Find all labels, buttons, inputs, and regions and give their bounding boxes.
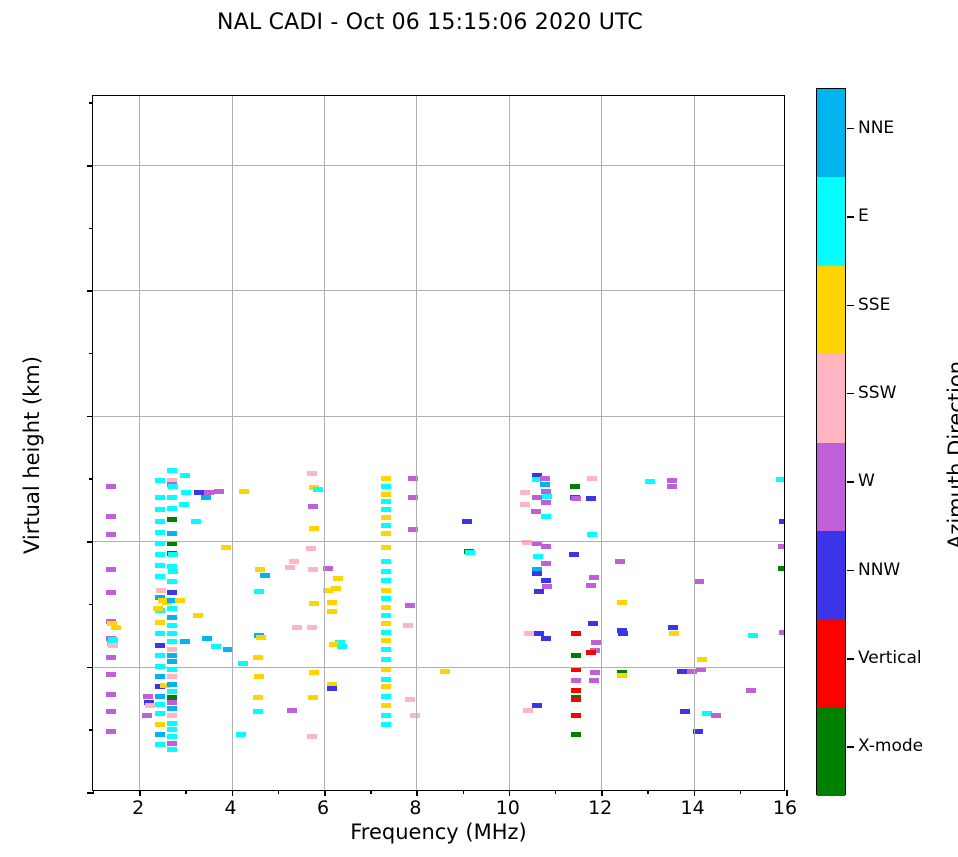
echo-point — [155, 620, 165, 625]
gridline-v — [416, 96, 417, 790]
echo-point — [748, 633, 758, 638]
echo-point — [333, 576, 343, 581]
echo-point — [668, 625, 678, 630]
azimuth-colorbar[interactable] — [816, 88, 846, 795]
echo-point — [167, 653, 177, 658]
page-title: NAL CADI - Oct 06 15:15:06 2020 UTC — [0, 10, 860, 35]
scatter-plot-area — [93, 96, 784, 790]
x-minor-tick — [647, 790, 648, 794]
echo-point — [106, 655, 116, 660]
echo-point — [167, 615, 177, 620]
echo-point — [541, 561, 551, 566]
echo-point — [167, 468, 177, 473]
echo-point — [202, 636, 212, 641]
gridline-v — [139, 96, 140, 790]
echo-point — [211, 644, 221, 649]
gridline-v — [232, 96, 233, 790]
echo-point — [381, 545, 391, 550]
echo-point — [167, 495, 177, 500]
x-minor-tick — [463, 790, 464, 794]
colorbar-segment-sse[interactable] — [817, 266, 845, 354]
echo-point — [615, 559, 625, 564]
echo-point — [308, 504, 318, 509]
x-tick — [694, 790, 696, 796]
echo-point — [541, 544, 551, 549]
echo-point — [776, 477, 784, 482]
echo-point — [617, 600, 627, 605]
echo-point — [313, 487, 323, 492]
x-minor-tick — [370, 790, 371, 794]
y-tick — [87, 667, 93, 669]
echo-point — [693, 729, 703, 734]
x-tick-label: 2 — [132, 797, 144, 819]
echo-point — [155, 742, 165, 747]
echo-point — [236, 732, 246, 737]
echo-point — [697, 657, 707, 662]
echo-point — [155, 702, 165, 707]
x-minor-tick — [278, 790, 279, 794]
echo-point — [746, 688, 756, 693]
colorbar-label-e: E — [858, 206, 869, 226]
colorbar-title: Azimuth Direction — [944, 305, 958, 605]
gridline-h — [93, 416, 784, 417]
echo-point — [106, 590, 116, 595]
echo-point — [155, 563, 165, 568]
echo-point — [586, 583, 596, 588]
colorbar-tick — [847, 305, 854, 307]
echo-point — [111, 625, 121, 630]
echo-point — [381, 713, 391, 718]
echo-point — [155, 732, 165, 737]
echo-point — [106, 692, 116, 697]
echo-point — [155, 711, 165, 716]
echo-point — [541, 514, 551, 519]
echo-point — [155, 552, 165, 557]
echo-point — [143, 694, 153, 699]
echo-point — [221, 545, 231, 550]
x-tick-label: 10 — [496, 797, 520, 819]
colorbar-segment-e[interactable] — [817, 177, 845, 265]
echo-point — [253, 709, 263, 714]
colorbar-segment-x-mode[interactable] — [817, 708, 845, 796]
colorbar-tick — [847, 658, 854, 660]
echo-point — [667, 484, 677, 489]
echo-point — [540, 476, 550, 481]
echo-point — [155, 574, 165, 579]
y-minor-tick — [89, 729, 93, 730]
echo-point — [168, 552, 178, 557]
y-minor-tick — [89, 102, 93, 103]
echo-point — [106, 514, 116, 519]
echo-point — [541, 636, 551, 641]
echo-point — [106, 567, 116, 572]
echo-point — [191, 519, 201, 524]
echo-point — [381, 476, 391, 481]
echo-point — [156, 588, 166, 593]
echo-point — [571, 697, 581, 702]
echo-point — [167, 689, 177, 694]
echo-point — [711, 713, 721, 718]
y-minor-tick — [89, 353, 93, 354]
colorbar-segment-nnw[interactable] — [817, 531, 845, 619]
echo-point — [569, 552, 579, 557]
echo-point — [167, 721, 177, 726]
echo-point — [405, 697, 415, 702]
echo-point — [287, 708, 297, 713]
echo-point — [571, 678, 581, 683]
x-tick — [509, 790, 511, 796]
echo-point — [167, 713, 177, 718]
echo-point — [520, 490, 530, 495]
echo-point — [542, 584, 552, 589]
y-minor-tick — [89, 478, 93, 479]
echo-point — [618, 631, 628, 636]
echo-point — [589, 678, 599, 683]
echo-point — [381, 694, 391, 699]
echo-point — [405, 603, 415, 608]
x-tick-label: 16 — [773, 797, 797, 819]
echo-point — [193, 613, 203, 618]
echo-point — [167, 659, 177, 664]
echo-point — [145, 703, 155, 708]
echo-point — [381, 638, 391, 643]
echo-point — [255, 567, 265, 572]
echo-point — [381, 657, 391, 662]
echo-point — [155, 495, 165, 500]
gridline-h — [93, 290, 784, 291]
echo-point — [289, 559, 299, 564]
echo-point — [465, 550, 475, 555]
echo-point — [590, 670, 600, 675]
echo-point — [292, 625, 302, 630]
echo-point — [570, 484, 580, 489]
echo-point — [167, 623, 177, 628]
gridline-h — [93, 667, 784, 668]
x-minor-tick — [555, 790, 556, 794]
echo-point — [155, 631, 165, 636]
echo-point — [779, 519, 784, 524]
echo-point — [532, 703, 542, 708]
echo-point — [306, 546, 316, 551]
colorbar-label-ssw: SSW — [858, 383, 896, 403]
echo-point — [534, 589, 544, 594]
echo-point — [586, 650, 596, 655]
echo-point — [155, 643, 165, 648]
echo-point — [167, 747, 177, 752]
colorbar-label-vertical: Vertical — [858, 648, 922, 668]
echo-point — [253, 655, 263, 660]
echo-point — [155, 722, 165, 727]
echo-point — [167, 706, 177, 711]
echo-point — [260, 573, 270, 578]
echo-point — [381, 492, 391, 497]
echo-point — [381, 647, 391, 652]
echo-point — [239, 489, 249, 494]
echo-point — [307, 471, 317, 476]
echo-point — [677, 669, 687, 674]
echo-point — [440, 669, 450, 674]
echo-point — [327, 600, 337, 605]
echo-point — [381, 578, 391, 583]
echo-point — [309, 526, 319, 531]
echo-point — [153, 606, 163, 611]
colorbar-tick — [847, 216, 854, 218]
echo-point — [588, 621, 598, 626]
echo-point — [155, 653, 165, 658]
echo-point — [308, 567, 318, 572]
plot-axes: 02004006008001000 — [92, 95, 785, 791]
echo-point — [531, 509, 541, 514]
echo-point — [106, 532, 116, 537]
echo-point — [307, 734, 317, 739]
y-minor-tick — [89, 228, 93, 229]
echo-point — [179, 502, 189, 507]
echo-point — [591, 640, 601, 645]
colorbar-tick — [847, 570, 854, 572]
echo-point — [680, 709, 690, 714]
echo-point — [155, 530, 165, 535]
echo-point — [381, 507, 391, 512]
echo-point — [175, 598, 185, 603]
y-tick — [87, 416, 93, 418]
x-minor-tick — [740, 790, 741, 794]
echo-point — [167, 631, 177, 636]
echo-point — [645, 479, 655, 484]
echo-point — [778, 544, 784, 549]
y-tick — [87, 165, 93, 167]
x-tick — [139, 790, 141, 796]
echo-point — [167, 579, 177, 584]
echo-point — [167, 727, 177, 732]
echo-point — [155, 507, 165, 512]
colorbar-label-nne: NNE — [858, 118, 894, 138]
echo-point — [106, 709, 116, 714]
echo-point — [694, 579, 704, 584]
echo-point — [381, 484, 391, 489]
echo-point — [256, 635, 266, 640]
echo-point — [155, 519, 165, 524]
colorbar-tick — [847, 481, 854, 483]
echo-point — [381, 515, 391, 520]
echo-point — [167, 506, 177, 511]
echo-point — [571, 653, 581, 658]
colorbar-label-x-mode: X-mode — [858, 736, 923, 756]
echo-point — [167, 674, 177, 679]
echo-point — [381, 605, 391, 610]
echo-point — [168, 569, 178, 574]
echo-point — [617, 673, 627, 678]
echo-point — [201, 495, 211, 500]
echo-point — [587, 532, 597, 537]
echo-point — [337, 644, 347, 649]
colorbar-segment-ssw[interactable] — [817, 354, 845, 442]
echo-point — [309, 601, 319, 606]
colorbar-segment-vertical[interactable] — [817, 619, 845, 707]
gridline-h — [93, 165, 784, 166]
echo-point — [167, 531, 177, 536]
echo-point — [381, 499, 391, 504]
x-tick — [601, 790, 603, 796]
echo-point — [524, 631, 534, 636]
x-tick — [324, 790, 326, 796]
echo-point — [571, 688, 581, 693]
x-tick-label: 12 — [588, 797, 612, 819]
x-tick-label: 8 — [409, 797, 421, 819]
echo-point — [167, 606, 177, 611]
echo-point — [167, 517, 177, 522]
gridline-v — [509, 96, 510, 790]
echo-point — [381, 677, 391, 682]
echo-point — [381, 559, 391, 564]
echo-point — [142, 713, 152, 718]
echo-point — [587, 476, 597, 481]
echo-point — [167, 647, 177, 652]
echo-point — [381, 684, 391, 689]
echo-point — [542, 494, 552, 499]
x-tick-label: 14 — [681, 797, 705, 819]
echo-point — [167, 639, 177, 644]
echo-point — [106, 729, 116, 734]
echo-point — [696, 667, 706, 672]
echo-point — [254, 589, 264, 594]
echo-point — [571, 631, 581, 636]
gridline-v — [601, 96, 602, 790]
gridline-h — [93, 541, 784, 542]
echo-point — [253, 695, 263, 700]
echo-point — [168, 484, 178, 489]
echo-point — [523, 708, 533, 713]
echo-point — [180, 473, 190, 478]
gridline-v — [324, 96, 325, 790]
echo-point — [327, 686, 337, 691]
echo-point — [381, 621, 391, 626]
echo-point — [167, 734, 177, 739]
echo-point — [167, 682, 177, 687]
echo-point — [778, 566, 784, 571]
x-minor-tick — [93, 790, 94, 794]
y-tick — [87, 290, 93, 292]
echo-point — [381, 531, 391, 536]
echo-point — [381, 722, 391, 727]
echo-point — [108, 643, 118, 648]
echo-point — [254, 674, 264, 679]
x-axis-title: Frequency (MHz) — [92, 820, 785, 844]
echo-point — [167, 741, 177, 746]
colorbar-label-w: W — [858, 471, 875, 491]
echo-point — [167, 590, 177, 595]
echo-point — [381, 613, 391, 618]
echo-point — [571, 713, 581, 718]
echo-point — [108, 637, 118, 642]
echo-point — [462, 519, 472, 524]
echo-point — [155, 478, 165, 483]
gridline-v — [694, 96, 695, 790]
echo-point — [381, 523, 391, 528]
colorbar-segment-nne[interactable] — [817, 89, 845, 177]
echo-point — [410, 713, 420, 718]
echo-point — [540, 482, 550, 487]
echo-point — [589, 575, 599, 580]
echo-point — [403, 623, 413, 628]
x-tick-label: 6 — [317, 797, 329, 819]
echo-point — [381, 569, 391, 574]
echo-point — [155, 674, 165, 679]
echo-point — [285, 565, 295, 570]
echo-point — [571, 496, 581, 501]
echo-point — [541, 578, 551, 583]
echo-point — [155, 694, 165, 699]
echo-point — [533, 554, 543, 559]
echo-point — [541, 500, 551, 505]
y-axis-title: Virtual height (km) — [20, 305, 44, 605]
echo-point — [667, 478, 677, 483]
x-tick — [416, 790, 418, 796]
echo-point — [669, 631, 679, 636]
echo-point — [381, 703, 391, 708]
echo-point — [308, 695, 318, 700]
colorbar-tick — [847, 746, 854, 748]
echo-point — [381, 630, 391, 635]
echo-point — [307, 625, 317, 630]
y-minor-tick — [89, 604, 93, 605]
x-minor-tick — [185, 790, 186, 794]
echo-point — [779, 630, 784, 635]
echo-point — [532, 571, 542, 576]
echo-point — [181, 490, 191, 495]
echo-point — [586, 496, 596, 501]
echo-point — [381, 588, 391, 593]
x-tick — [786, 790, 788, 796]
colorbar-tick — [847, 393, 854, 395]
colorbar-label-sse: SSE — [858, 295, 890, 315]
x-tick — [232, 790, 234, 796]
echo-point — [106, 672, 116, 677]
colorbar-segment-w[interactable] — [817, 443, 845, 531]
echo-point — [238, 661, 248, 666]
echo-point — [214, 489, 224, 494]
echo-point — [381, 596, 391, 601]
y-tick — [87, 541, 93, 543]
echo-point — [327, 609, 337, 614]
echo-point — [520, 502, 530, 507]
colorbar-label-nnw: NNW — [858, 560, 900, 580]
echo-point — [180, 639, 190, 644]
echo-point — [106, 484, 116, 489]
x-tick-label: 4 — [225, 797, 237, 819]
echo-point — [309, 670, 319, 675]
echo-point — [571, 732, 581, 737]
colorbar-tick — [847, 128, 854, 130]
echo-point — [167, 700, 177, 705]
